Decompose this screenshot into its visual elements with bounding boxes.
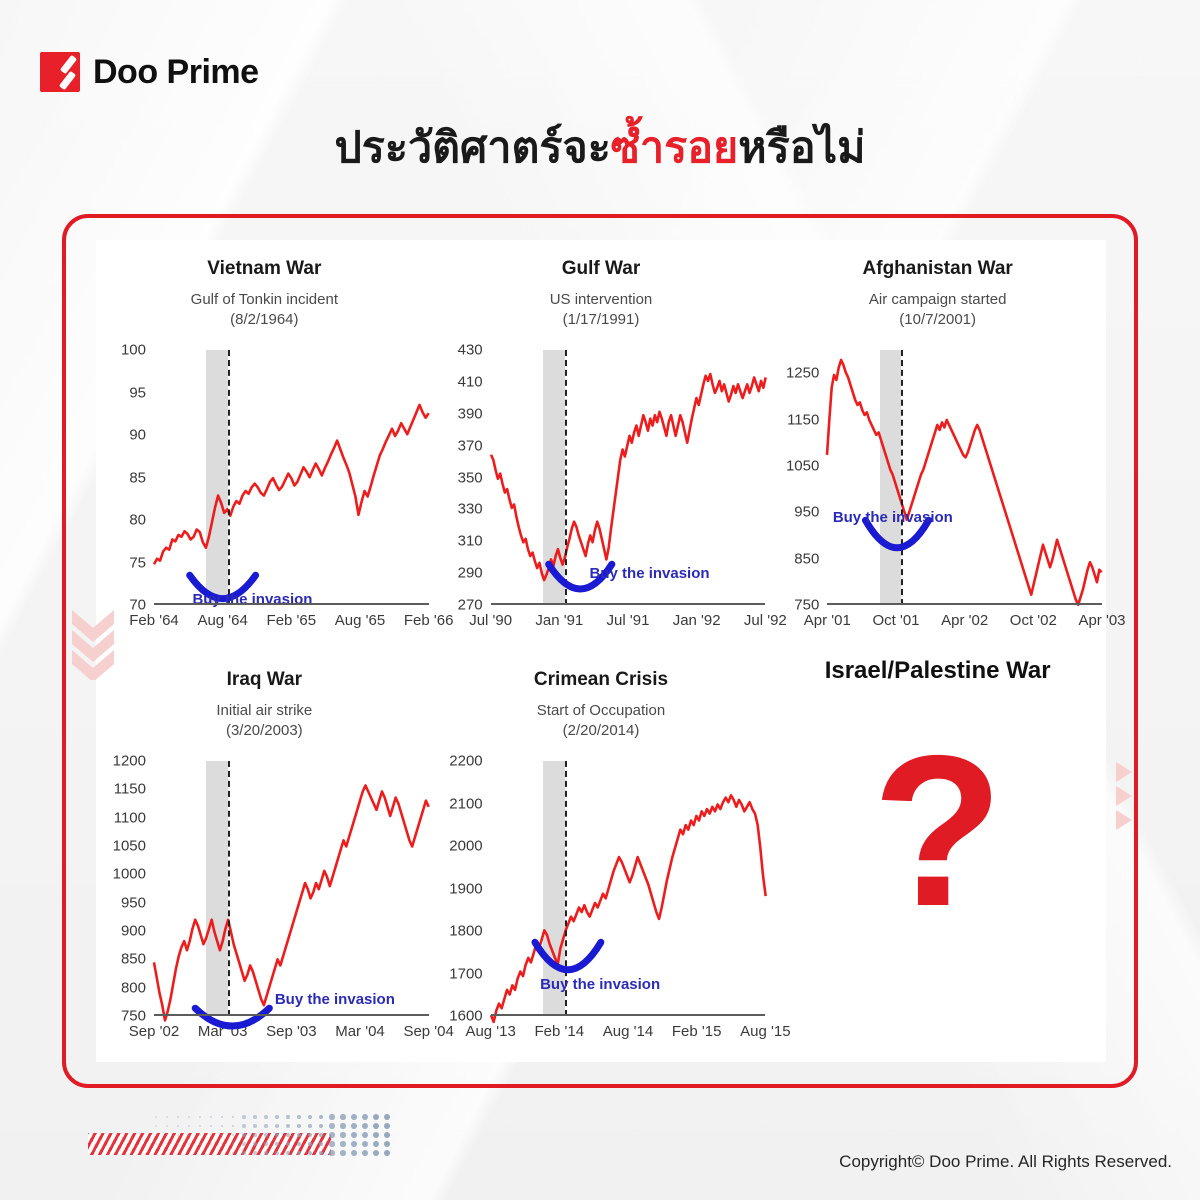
y-axis-tick: 1150 — [787, 411, 819, 428]
buy-the-invasion-label: Buy the invasion — [590, 565, 710, 582]
chart-title: Vietnam War — [96, 258, 433, 280]
y-axis-tick: 1000 — [113, 866, 146, 883]
y-axis-tick: 750 — [794, 597, 819, 614]
y-axis-tick: 1800 — [449, 923, 482, 940]
event-date: (3/20/2003) — [226, 722, 303, 739]
event-name: Air campaign started — [869, 291, 1007, 308]
buy-the-invasion-swoosh — [491, 350, 766, 625]
buy-the-invasion-label: Buy the invasion — [833, 509, 953, 526]
y-axis-tick: 100 — [121, 342, 146, 359]
event-date: (8/2/1964) — [230, 311, 298, 328]
y-axis-tick: 370 — [458, 437, 483, 454]
y-axis-tick: 80 — [129, 512, 146, 529]
y-axis-tick: 310 — [458, 533, 483, 550]
y-axis-tick: 1100 — [114, 809, 146, 826]
question-panel-title: Israel/Palestine War — [769, 657, 1106, 685]
question-mark-icon: ? — [769, 723, 1106, 938]
chart-panel-crimean-crisis: Crimean CrisisStart of Occupation(2/20/2… — [433, 651, 770, 1062]
event-name: Gulf of Tonkin incident — [191, 291, 338, 308]
plot-area: 270290310330350370390410430Jul '90Jan '9… — [491, 350, 766, 605]
doo-prime-logo-icon — [40, 52, 80, 92]
y-axis-tick: 800 — [121, 979, 146, 996]
y-axis-tick: 1700 — [449, 965, 482, 982]
chart-panel-vietnam-war: Vietnam WarGulf of Tonkin incident(8/2/1… — [96, 240, 433, 651]
chart-title: Iraq War — [96, 669, 433, 691]
x-axis-line — [491, 1014, 766, 1016]
chart-panel-israel-palestine: Israel/Palestine War? — [769, 651, 1106, 1062]
charts-grid: Vietnam WarGulf of Tonkin incident(8/2/1… — [96, 240, 1106, 1062]
chart-panel-gulf-war: Gulf WarUS intervention(1/17/1991)270290… — [433, 240, 770, 651]
chevron-right-decoration — [1114, 760, 1140, 834]
plot-area: 1600170018001900200021002200Aug '13Feb '… — [491, 761, 766, 1016]
y-axis-tick: 2100 — [449, 795, 482, 812]
chart-event-annotation: US intervention(1/17/1991) — [433, 290, 770, 330]
y-axis-tick: 85 — [129, 469, 146, 486]
event-name: Initial air strike — [216, 702, 312, 719]
plot-area: 75080085090095010001050110011501200Sep '… — [154, 761, 429, 1016]
chevron-down-decoration — [70, 608, 116, 680]
y-axis-tick: 1050 — [786, 457, 819, 474]
event-name: US intervention — [550, 291, 653, 308]
y-axis-tick: 430 — [458, 342, 483, 359]
dot-pattern-decoration — [150, 1112, 400, 1154]
event-name: Start of Occupation — [537, 702, 665, 719]
x-axis-line — [827, 603, 1102, 605]
brand-name: Doo Prime — [93, 53, 259, 92]
chart-panel-iraq-war: Iraq WarInitial air strike(3/20/2003)750… — [96, 651, 433, 1062]
chart-title: Afghanistan War — [769, 258, 1106, 280]
buy-the-invasion-label: Buy the invasion — [540, 976, 660, 993]
y-axis-tick: 75 — [129, 554, 146, 571]
y-axis-tick: 270 — [458, 597, 483, 614]
headline-prefix: ประวัติศาตร์จะ — [334, 124, 610, 172]
buy-the-invasion-swoosh — [827, 350, 1102, 625]
x-axis-line — [154, 1014, 429, 1016]
y-axis-tick: 70 — [129, 597, 146, 614]
plot-area: 750850950105011501250Apr '01Oct '01Apr '… — [827, 350, 1102, 605]
chart-event-annotation: Start of Occupation(2/20/2014) — [433, 701, 770, 741]
y-axis-tick: 1050 — [113, 838, 146, 855]
x-axis-line — [154, 603, 429, 605]
y-axis-tick: 410 — [458, 373, 483, 390]
y-axis-tick: 290 — [458, 565, 483, 582]
event-date: (1/17/1991) — [563, 311, 640, 328]
chart-event-annotation: Air campaign started(10/7/2001) — [769, 290, 1106, 330]
chart-event-annotation: Gulf of Tonkin incident(8/2/1964) — [96, 290, 433, 330]
chart-title: Gulf War — [433, 258, 770, 280]
y-axis-tick: 95 — [129, 384, 146, 401]
y-axis-tick: 950 — [121, 894, 146, 911]
y-axis-tick: 2000 — [449, 838, 482, 855]
y-axis-tick: 330 — [458, 501, 483, 518]
chart-event-annotation: Initial air strike(3/20/2003) — [96, 701, 433, 741]
headline-highlight: ซ้ำรอย — [611, 124, 738, 172]
brand-header: Doo Prime — [40, 52, 259, 92]
buy-the-invasion-label: Buy the invasion — [275, 991, 395, 1008]
chart-title: Crimean Crisis — [433, 669, 770, 691]
buy-the-invasion-swoosh — [154, 350, 429, 625]
y-axis-tick: 90 — [129, 427, 146, 444]
y-axis-tick: 750 — [121, 1008, 146, 1025]
charts-panel: Vietnam WarGulf of Tonkin incident(8/2/1… — [96, 240, 1106, 1062]
page-title: ประวัติศาตร์จะซ้ำรอยหรือไม่ — [0, 125, 1200, 172]
event-date: (10/7/2001) — [899, 311, 976, 328]
y-axis-tick: 850 — [794, 550, 819, 567]
headline-suffix: หรือไม่ — [738, 124, 865, 172]
chart-panel-afghanistan-war: Afghanistan WarAir campaign started(10/7… — [769, 240, 1106, 651]
y-axis-tick: 900 — [121, 923, 146, 940]
y-axis-tick: 2200 — [449, 753, 482, 770]
x-axis-line — [491, 603, 766, 605]
y-axis-tick: 390 — [458, 405, 483, 422]
y-axis-tick: 1600 — [449, 1008, 482, 1025]
copyright-text: Copyright© Doo Prime. All Rights Reserve… — [839, 1152, 1172, 1172]
y-axis-tick: 850 — [121, 951, 146, 968]
y-axis-tick: 1200 — [113, 753, 146, 770]
y-axis-tick: 950 — [794, 504, 819, 521]
y-axis-tick: 350 — [458, 469, 483, 486]
y-axis-tick: 1250 — [786, 365, 819, 382]
y-axis-tick: 1900 — [449, 880, 482, 897]
event-date: (2/20/2014) — [563, 722, 640, 739]
plot-area: 707580859095100Feb '64Aug '64Feb '65Aug … — [154, 350, 429, 605]
y-axis-tick: 1150 — [114, 781, 146, 798]
buy-the-invasion-swoosh — [491, 761, 766, 1036]
